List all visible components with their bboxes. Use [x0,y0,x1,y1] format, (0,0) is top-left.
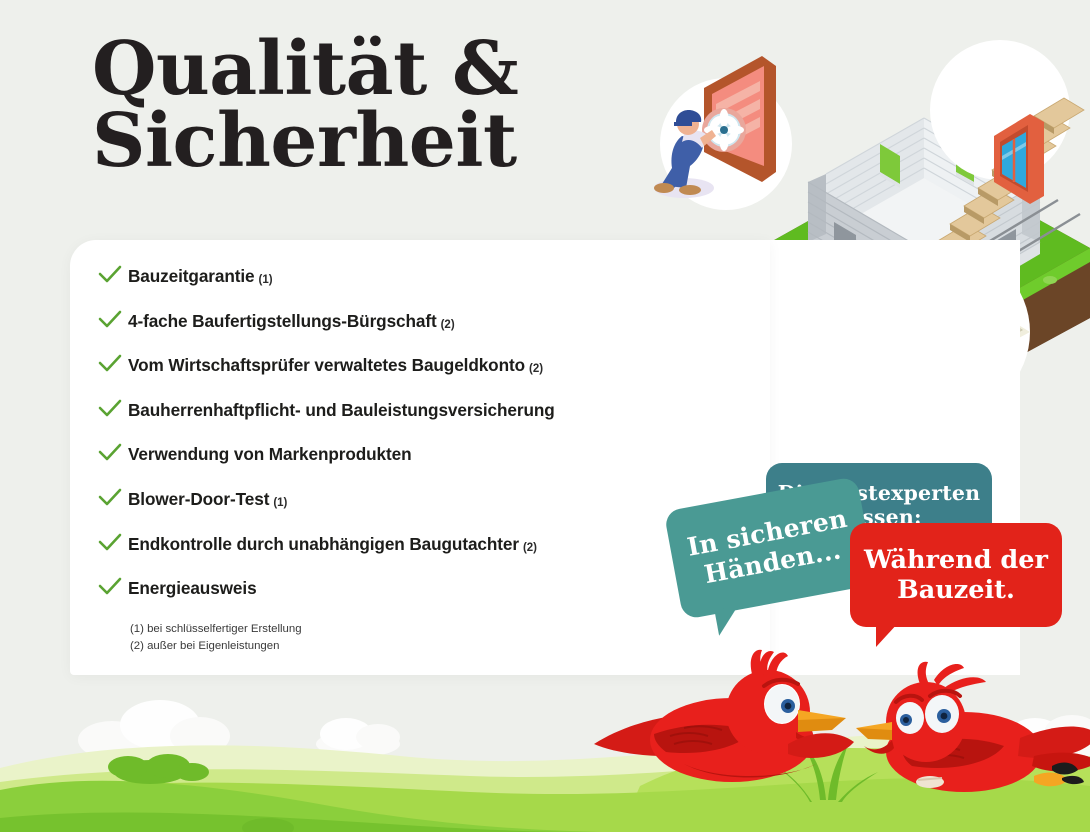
checklist-item-marker: (2) [523,542,537,554]
check-icon [98,310,128,330]
checklist-item-marker: (2) [441,319,455,331]
checklist-item-label: Bauzeitgarantie [128,266,254,287]
checklist-item[interactable]: Verwendung von Markenprodukten [98,440,738,485]
check-icon [98,533,128,553]
checklist-item-label: Energieausweis [128,578,257,599]
footnote-1: (1) bei schlüsselfertiger Erstellung [130,621,302,638]
checklist-item[interactable]: Bauherrenhaftpflicht- und Bauleistungsve… [98,396,738,441]
checklist-item-marker: (2) [529,363,543,375]
footnote-2: (2) außer bei Eigenleistungen [130,638,302,655]
checklist-item-marker: (1) [273,497,287,509]
checklist-item[interactable]: Bauzeitgarantie (1) [98,262,738,307]
infographic-stage: Qualität & Sicherheit Bauzeitgarantie (1… [0,0,1090,832]
quality-checklist: Bauzeitgarantie (1) 4-fache Baufertigste… [98,262,738,619]
checklist-item-label: Verwendung von Markenprodukten [128,444,412,465]
checklist-item-label: Endkontrolle durch unabhängigen Baugutac… [128,534,519,555]
checklist-item-label: Vom Wirtschaftsprüfer verwaltetes Baugel… [128,355,525,376]
checklist-item[interactable]: Endkontrolle durch unabhängigen Baugutac… [98,530,738,575]
footnotes: (1) bei schlüsselfertiger Erstellung (2)… [130,621,302,654]
check-icon [98,399,128,419]
checklist-item[interactable]: Vom Wirtschaftsprüfer verwaltetes Baugel… [98,351,738,396]
badge-worker-fan [654,56,792,210]
checklist-item[interactable]: Energieausweis [98,574,738,619]
speech-bubble-bauzeit-text: Während der Bauzeit. [850,545,1062,605]
check-icon [98,354,128,374]
checklist-item-label: Bauherrenhaftpflicht- und Bauleistungsve… [128,400,555,421]
checklist-item-marker: (1) [258,274,272,286]
check-icon [98,488,128,508]
checklist-item[interactable]: Blower-Door-Test (1) [98,485,738,530]
speech-bubble-tail [876,623,898,647]
speech-bubble-tail [714,606,742,636]
checklist-item[interactable]: 4-fache Baufertigstellungs-Bürgschaft (2… [98,307,738,352]
speech-bubble-bauzeit: Während der Bauzeit. [850,523,1062,627]
speech-bubble-haenden-text: In sicheren Händen... [668,501,872,596]
check-icon [98,577,128,597]
checklist-item-label: Blower-Door-Test [128,489,269,510]
check-icon [98,265,128,285]
red-bird-right [848,660,1090,810]
check-icon [98,443,128,463]
page-title: Qualität & Sicherheit [92,34,652,178]
bird-foot [916,776,944,788]
checklist-item-label: 4-fache Baufertigstellungs-Bürgschaft [128,311,437,332]
